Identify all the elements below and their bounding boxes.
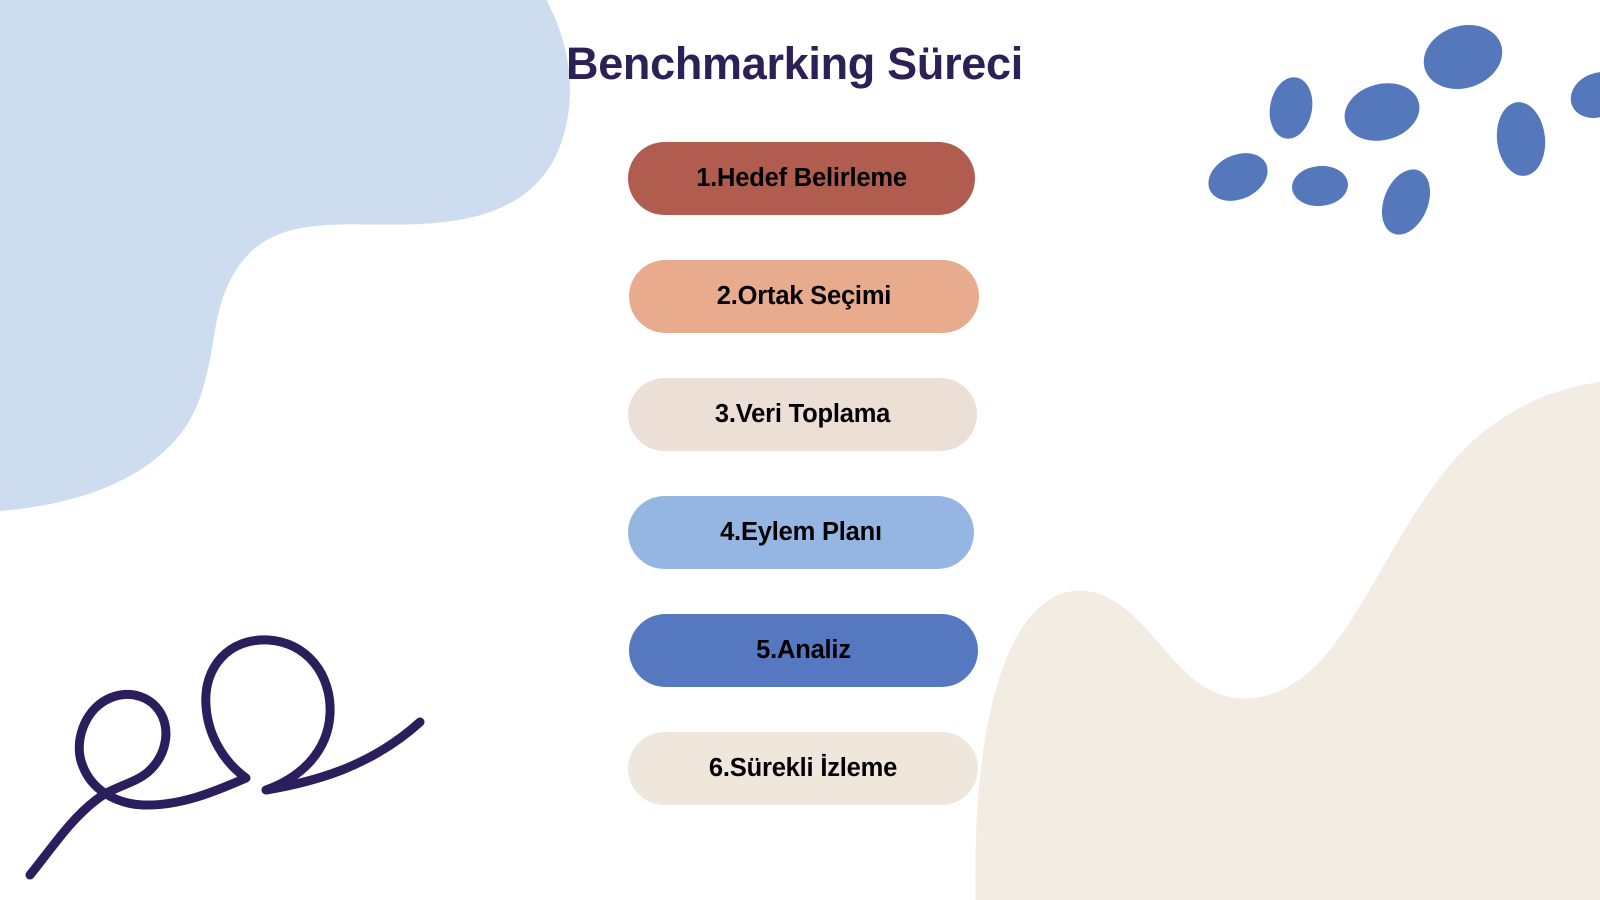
process-step-4-label: 4.Eylem Planı [720, 518, 882, 547]
light-blue-blob-shape [0, 0, 570, 512]
process-step-5-label: 5.Analiz [756, 636, 851, 665]
process-step-2[interactable]: 2.Ortak Seçimi [629, 260, 979, 333]
page-title: Benchmarking Süreci [566, 38, 1023, 90]
process-step-1[interactable]: 1.Hedef Belirleme [628, 142, 975, 215]
process-step-3-label: 3.Veri Toplama [715, 400, 890, 429]
process-step-1-label: 1.Hedef Belirleme [696, 164, 907, 193]
blue-ellipse-cluster-shape [1201, 15, 1600, 242]
cream-wave-blob-shape [975, 380, 1600, 900]
slide-canvas: Benchmarking Süreci 1.Hedef Belirleme 2.… [0, 0, 1600, 900]
process-step-3[interactable]: 3.Veri Toplama [628, 378, 977, 451]
navy-loop-squiggle-detail [30, 640, 420, 875]
process-step-5[interactable]: 5.Analiz [629, 614, 978, 687]
process-step-6[interactable]: 6.Sürekli İzleme [628, 732, 978, 805]
process-step-2-label: 2.Ortak Seçimi [717, 282, 891, 311]
process-step-list: 1.Hedef Belirleme 2.Ortak Seçimi 3.Veri … [628, 142, 978, 805]
process-step-4[interactable]: 4.Eylem Planı [628, 496, 974, 569]
process-step-6-label: 6.Sürekli İzleme [709, 754, 897, 783]
